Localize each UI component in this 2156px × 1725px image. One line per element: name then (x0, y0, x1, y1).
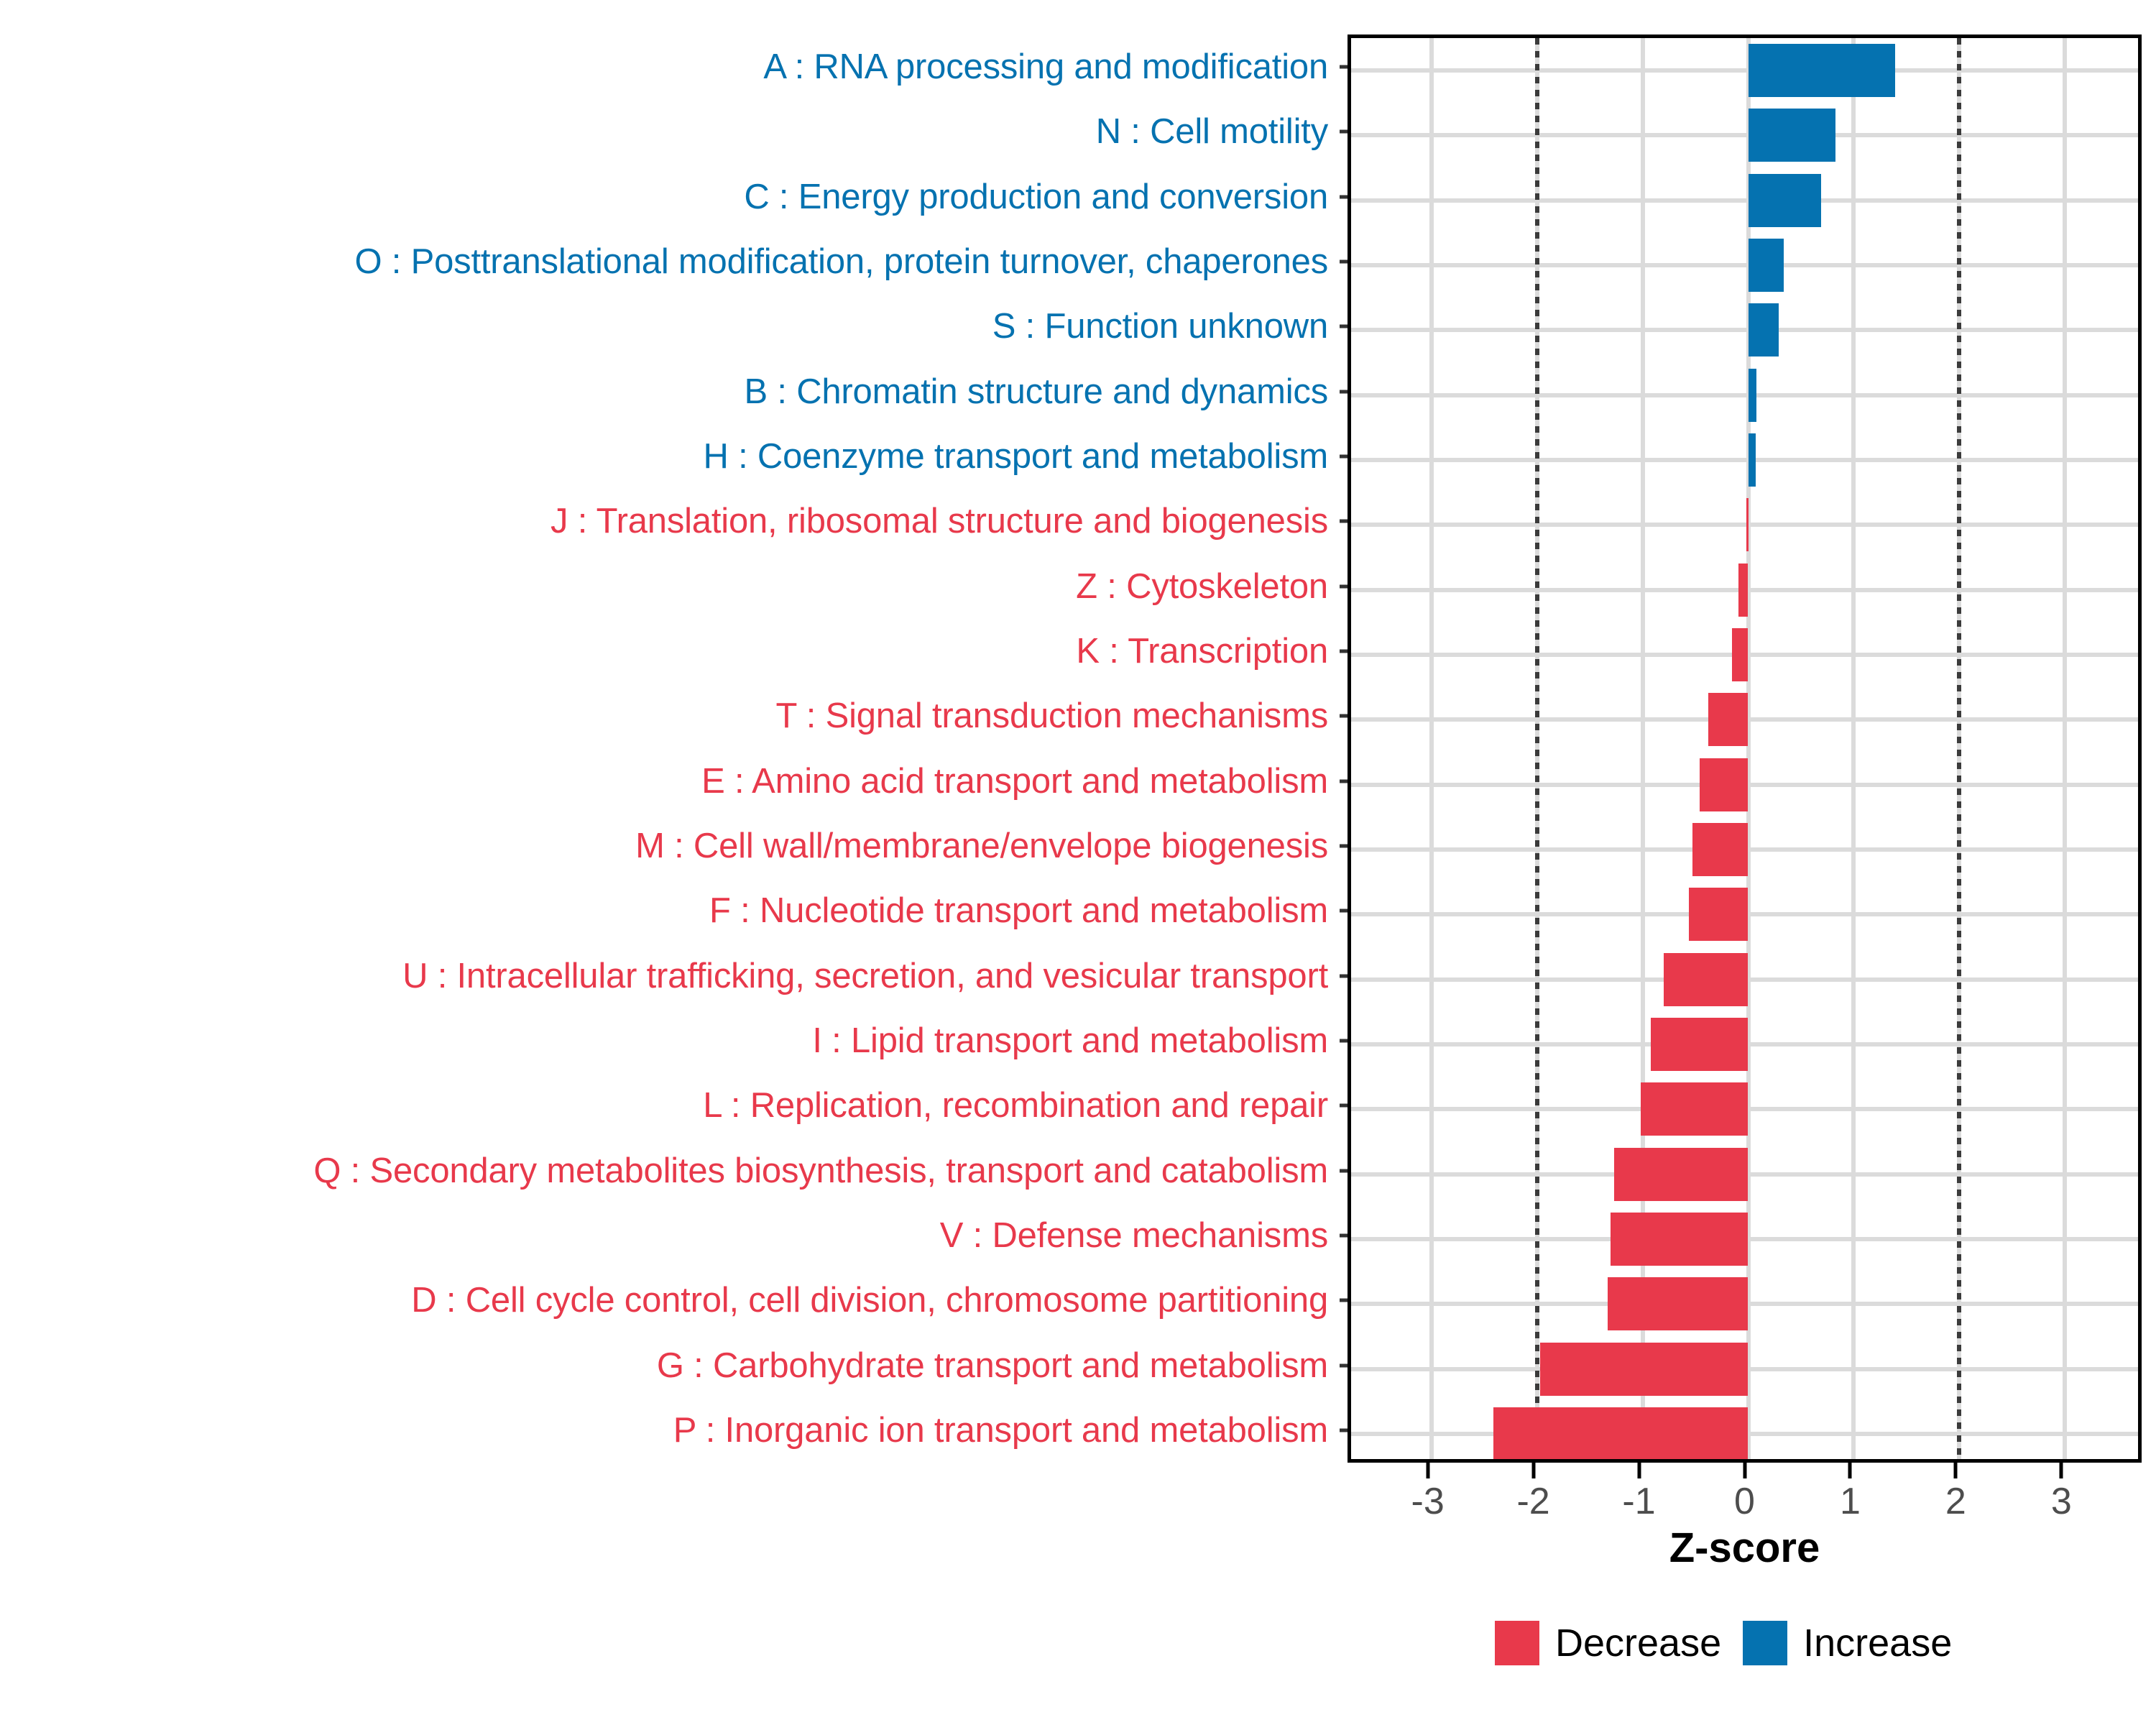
bar[interactable] (1692, 823, 1749, 876)
category-label: F : Nucleotide transport and metabolism (6, 892, 1328, 929)
reference-line--2 (1535, 38, 1539, 1459)
plot-panel (1347, 34, 2142, 1463)
bar[interactable] (1749, 369, 1757, 422)
y-axis-tick (1340, 195, 1347, 198)
y-axis-tick (1340, 65, 1347, 69)
reference-line-2 (1957, 38, 1961, 1459)
legend-swatch-increase (1743, 1621, 1787, 1665)
horizontal-gridline (1351, 328, 2138, 332)
bar[interactable] (1749, 174, 1821, 227)
bar[interactable] (1689, 888, 1748, 941)
x-axis-tick (1637, 1463, 1641, 1478)
horizontal-gridline (1351, 198, 2138, 203)
category-label: D : Cell cycle control, cell division, c… (6, 1282, 1328, 1319)
category-label: E : Amino acid transport and metabolism (6, 763, 1328, 800)
x-axis-tick (2060, 1463, 2063, 1478)
legend-item-decrease[interactable]: Decrease (1495, 1621, 1721, 1665)
x-axis-tick-label: -3 (1411, 1480, 1445, 1523)
y-axis-tick (1340, 1039, 1347, 1042)
bar[interactable] (1749, 303, 1779, 356)
x-axis-tick (1531, 1463, 1535, 1478)
y-axis-tick (1340, 844, 1347, 847)
y-axis-tick (1340, 1104, 1347, 1108)
category-label: H : Coenzyme transport and metabolism (6, 438, 1328, 475)
x-axis-tick (1426, 1463, 1429, 1478)
category-label: Z : Cytoskeleton (6, 568, 1328, 605)
legend-label-decrease: Decrease (1555, 1621, 1721, 1665)
y-axis-tick (1340, 1169, 1347, 1172)
bar[interactable] (1732, 628, 1748, 681)
bar[interactable] (1493, 1407, 1748, 1460)
category-label: L : Replication, recombination and repai… (6, 1087, 1328, 1124)
category-label: G : Carbohydrate transport and metabolis… (6, 1347, 1328, 1384)
bar[interactable] (1708, 693, 1749, 746)
category-label: P : Inorganic ion transport and metaboli… (6, 1412, 1328, 1449)
bar[interactable] (1641, 1082, 1749, 1136)
y-axis-tick (1340, 714, 1347, 718)
category-label: A : RNA processing and modification (6, 48, 1328, 86)
y-axis-tick (1340, 1363, 1347, 1367)
category-label: U : Intracellular trafficking, secretion… (6, 957, 1328, 995)
bar[interactable] (1664, 953, 1749, 1006)
vertical-gridline (1851, 38, 1856, 1459)
bar[interactable] (1749, 44, 1895, 97)
category-label: J : Translation, ribosomal structure and… (6, 502, 1328, 540)
y-axis-tick (1340, 325, 1347, 328)
x-axis-tick (1954, 1463, 1958, 1478)
bar[interactable] (1746, 498, 1749, 551)
y-axis-tick (1340, 520, 1347, 523)
horizontal-gridline (1351, 263, 2138, 267)
x-axis-tick-label: 1 (1840, 1480, 1861, 1523)
y-axis-tick (1340, 650, 1347, 653)
cog-zscore-bar-chart: A : RNA processing and modificationN : C… (0, 0, 2156, 1725)
bar[interactable] (1651, 1018, 1748, 1071)
y-axis-tick (1340, 260, 1347, 264)
category-label: Q : Secondary metabolites biosynthesis, … (6, 1152, 1328, 1190)
y-axis-tick (1340, 1428, 1347, 1432)
bar[interactable] (1749, 109, 1836, 162)
category-label: S : Function unknown (6, 308, 1328, 345)
category-label: T : Signal transduction mechanisms (6, 697, 1328, 735)
vertical-gridline (2063, 38, 2067, 1459)
legend-label-increase: Increase (1803, 1621, 1952, 1665)
chart-legend: Decrease Increase (1495, 1621, 1952, 1665)
x-axis-tick-label: -2 (1516, 1480, 1549, 1523)
y-axis-tick (1340, 1299, 1347, 1302)
y-axis-tick (1340, 1233, 1347, 1237)
category-label: O : Posttranslational modification, prot… (6, 243, 1328, 280)
horizontal-gridline (1351, 523, 2138, 527)
horizontal-gridline (1351, 458, 2138, 462)
y-axis-tick (1340, 584, 1347, 588)
horizontal-gridline (1351, 133, 2138, 137)
legend-item-increase[interactable]: Increase (1743, 1621, 1952, 1665)
y-axis-tick (1340, 779, 1347, 783)
bar[interactable] (1749, 239, 1784, 292)
x-axis-title: Z-score (1347, 1524, 2142, 1572)
category-label: B : Chromatin structure and dynamics (6, 373, 1328, 410)
category-label: K : Transcription (6, 632, 1328, 670)
bar[interactable] (1738, 563, 1748, 617)
x-axis-tick-label: -1 (1622, 1480, 1655, 1523)
y-axis-tick (1340, 974, 1347, 977)
x-axis-tick-label: 3 (2051, 1480, 2072, 1523)
bar[interactable] (1614, 1148, 1749, 1201)
legend-swatch-decrease (1495, 1621, 1539, 1665)
bar[interactable] (1540, 1343, 1748, 1396)
y-axis-tick (1340, 390, 1347, 393)
category-axis-labels: A : RNA processing and modificationN : C… (0, 34, 1338, 1463)
vertical-gridline (1429, 38, 1434, 1459)
bar[interactable] (1608, 1277, 1748, 1330)
x-axis-tick (1743, 1463, 1746, 1478)
bar[interactable] (1749, 433, 1756, 487)
horizontal-gridline (1351, 393, 2138, 397)
category-label: V : Defense mechanisms (6, 1217, 1328, 1254)
bar[interactable] (1700, 758, 1749, 811)
category-label: C : Energy production and conversion (6, 178, 1328, 216)
horizontal-gridline (1351, 68, 2138, 73)
category-label: M : Cell wall/membrane/envelope biogenes… (6, 827, 1328, 865)
bar[interactable] (1611, 1213, 1748, 1266)
y-axis-tick (1340, 130, 1347, 134)
category-label: I : Lipid transport and metabolism (6, 1022, 1328, 1059)
y-axis-tick (1340, 909, 1347, 913)
y-axis-tick (1340, 455, 1347, 459)
x-axis-tick-label: 0 (1734, 1480, 1755, 1523)
x-axis-tick-label: 2 (1945, 1480, 1966, 1523)
x-axis-tick (1848, 1463, 1852, 1478)
category-label: N : Cell motility (6, 113, 1328, 150)
